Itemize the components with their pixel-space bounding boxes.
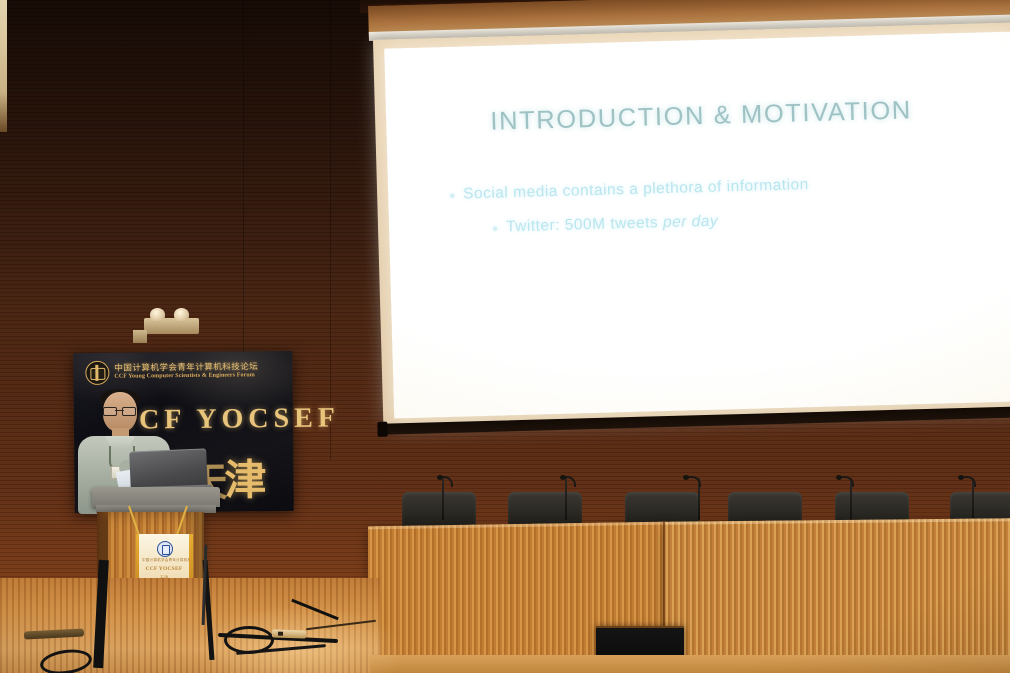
wall-junction-box <box>133 330 147 343</box>
projection-screen: INTRODUCTION & MOTIVATION Social media c… <box>368 0 1010 456</box>
slide-bullet-text: Social media contains a plethora of info… <box>463 176 809 203</box>
stage-floor-right <box>370 655 1010 673</box>
pennant-ccf-logo-icon <box>157 541 173 557</box>
slide-subbullet-wrap: Twitter: 500M tweets per day <box>506 213 719 237</box>
slide-subbullet-text: Twitter: 500M tweets <box>506 214 663 235</box>
wall-left-light-edge <box>0 0 7 132</box>
banner-english-title: CCF Young Computer Scientists & Engineer… <box>114 373 258 382</box>
banner-city-glyph: 津 <box>224 446 267 507</box>
glasses-icon <box>103 407 136 414</box>
bullet-dot-icon <box>493 227 497 231</box>
banner-header-text: 中国计算机学会青年计算机科技论坛 CCF Young Computer Scie… <box>114 363 258 382</box>
pennant-acronym: CCF YOCSEF <box>142 566 186 572</box>
microphone-head-icon <box>836 475 842 480</box>
slide-bullet-level2: Twitter: 500M tweets per day <box>493 205 1010 237</box>
banner-header-row: 中国计算机学会青年计算机科技论坛 CCF Young Computer Scie… <box>85 359 285 385</box>
podium-top-surface <box>92 487 220 507</box>
slide-surface: INTRODUCTION & MOTIVATION Social media c… <box>384 32 1010 419</box>
ccf-logo-icon <box>85 361 109 385</box>
emergency-light-icon <box>144 318 199 334</box>
panel-desk-right <box>664 518 1010 664</box>
screen-frame: INTRODUCTION & MOTIVATION Social media c… <box>373 22 1010 427</box>
coiled-cable <box>224 626 274 654</box>
slide-title: INTRODUCTION & MOTIVATION <box>386 94 1010 140</box>
emergency-lamp-head-right <box>174 308 189 321</box>
microphone-head-icon <box>683 475 689 480</box>
emergency-lamp-head-left <box>150 308 165 321</box>
bullet-dot-icon <box>450 194 454 198</box>
slide-subbullet-emphasis: per day <box>663 213 719 231</box>
microphone-head-icon <box>437 475 443 480</box>
slide-bullet-level1: Social media contains a plethora of info… <box>450 171 1010 204</box>
microphone-head-icon <box>958 475 964 480</box>
power-strip <box>272 629 306 638</box>
microphone-head-icon <box>560 475 566 480</box>
conference-hall-photo: INTRODUCTION & MOTIVATION Social media c… <box>0 0 1010 673</box>
pennant-chinese-line: 中国计算机学会青年计算机科技论坛 <box>142 558 186 563</box>
